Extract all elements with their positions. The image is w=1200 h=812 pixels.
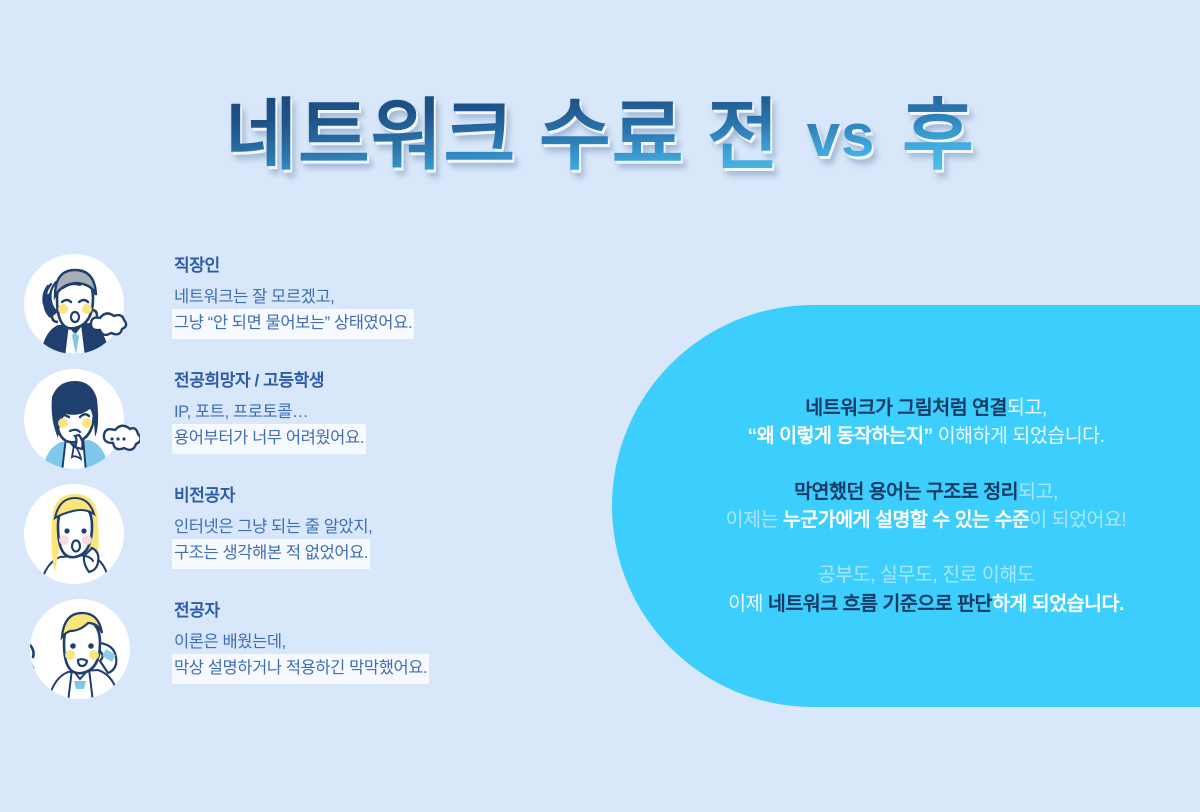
- after-bold-text: 누군가에게 설명할 수 있는 수준: [783, 509, 1029, 531]
- page-title-after: 후: [902, 91, 975, 179]
- person-line-highlight: 구조는 생각해본 적 없었어요.: [174, 541, 368, 567]
- list-item: 전공자 이론은 배웠는데, 막상 설명하거나 적용하긴 막막했어요.: [22, 597, 582, 712]
- after-bold-text: 네트워크가 그림처럼 연결: [805, 397, 1007, 419]
- after-plain-text: 되고,: [1018, 481, 1058, 503]
- after-plain-text: 이제는: [726, 509, 783, 531]
- person-text-block: 직장인 네트워크는 잘 모르겠고, 그냥 “안 되면 물어보는” 상태였어요.: [174, 256, 412, 337]
- person-line: 네트워크는 잘 모르겠고,: [174, 285, 334, 311]
- after-bold-text: 막연했던 용어는 구조로 정리: [794, 481, 1018, 503]
- male-student-avatar: [22, 597, 140, 702]
- list-item: 비전공자 인터넷은 그냥 되는 줄 알았지, 구조는 생각해본 적 없었어요.: [22, 482, 582, 597]
- person-text-block: 전공자 이론은 배웠는데, 막상 설명하거나 적용하긴 막막했어요.: [174, 601, 427, 682]
- after-paragraph: 막연했던 용어는 구조로 정리되고, 이제는 누군가에게 설명할 수 있는 수준…: [646, 478, 1200, 535]
- blonde-woman-avatar: [22, 482, 140, 587]
- list-item: 직장인 네트워크는 잘 모르겠고, 그냥 “안 되면 물어보는” 상태였어요.: [22, 252, 582, 367]
- female-student-avatar: [22, 367, 140, 472]
- after-section-panel: 네트워크가 그림처럼 연결되고, “왜 이렇게 동작하는지” 이해하게 되었습니…: [612, 305, 1200, 707]
- list-item: 전공희망자 / 고등학생 IP, 포트, 프로토콜… 용어부터가 너무 어려웠어…: [22, 367, 582, 482]
- person-role: 직장인: [174, 256, 412, 276]
- person-line-highlight: 그냥 “안 되면 물어보는” 상태였어요.: [174, 311, 412, 337]
- after-plain-text: 이 되었어요!: [1029, 509, 1126, 531]
- after-bold-text: 네트워크 흐름 기준으로 판단: [768, 593, 992, 615]
- after-plain-text: 이제: [728, 593, 768, 615]
- page-title: 네트워크 수료 전 vs 후: [0, 96, 1200, 174]
- after-plain-text: 공부도, 실무도, 진로 이해도: [818, 564, 1034, 586]
- page-title-vs: vs: [803, 102, 880, 169]
- infographic-page: { "page": { "background_color": "#d8e7fa…: [0, 0, 1200, 812]
- before-section: 직장인 네트워크는 잘 모르겠고, 그냥 “안 되면 물어보는” 상태였어요.: [22, 252, 582, 712]
- person-line-highlight: 막상 설명하거나 적용하긴 막막했어요.: [174, 656, 427, 682]
- after-paragraph: 네트워크가 그림처럼 연결되고, “왜 이렇게 동작하는지” 이해하게 되었습니…: [646, 394, 1200, 451]
- person-line: 인터넷은 그냥 되는 줄 알았지,: [174, 515, 372, 541]
- person-text-block: 전공희망자 / 고등학생 IP, 포트, 프로토콜… 용어부터가 너무 어려웠어…: [174, 371, 364, 452]
- after-plain-text: 이해하게 되었습니다.: [933, 425, 1105, 447]
- person-line-highlight: 용어부터가 너무 어려웠어요.: [174, 426, 364, 452]
- person-role: 전공자: [174, 601, 427, 621]
- person-line: IP, 포트, 프로토콜…: [174, 400, 308, 426]
- after-bold-text: 하게 되었습니다.: [992, 593, 1124, 615]
- page-title-main: 네트워크 수료 전: [225, 91, 780, 179]
- person-role: 전공희망자 / 고등학생: [174, 371, 364, 391]
- person-role: 비전공자: [174, 486, 372, 506]
- after-paragraph: 공부도, 실무도, 진로 이해도 이제 네트워크 흐름 기준으로 판단하게 되었…: [646, 561, 1200, 618]
- person-text-block: 비전공자 인터넷은 그냥 되는 줄 알았지, 구조는 생각해본 적 없었어요.: [174, 486, 372, 567]
- office-worker-avatar: [22, 252, 140, 357]
- after-plain-text: 되고,: [1007, 397, 1047, 419]
- person-line: 이론은 배웠는데,: [174, 630, 286, 656]
- after-bold-text: “왜 이렇게 동작하는지”: [747, 425, 932, 447]
